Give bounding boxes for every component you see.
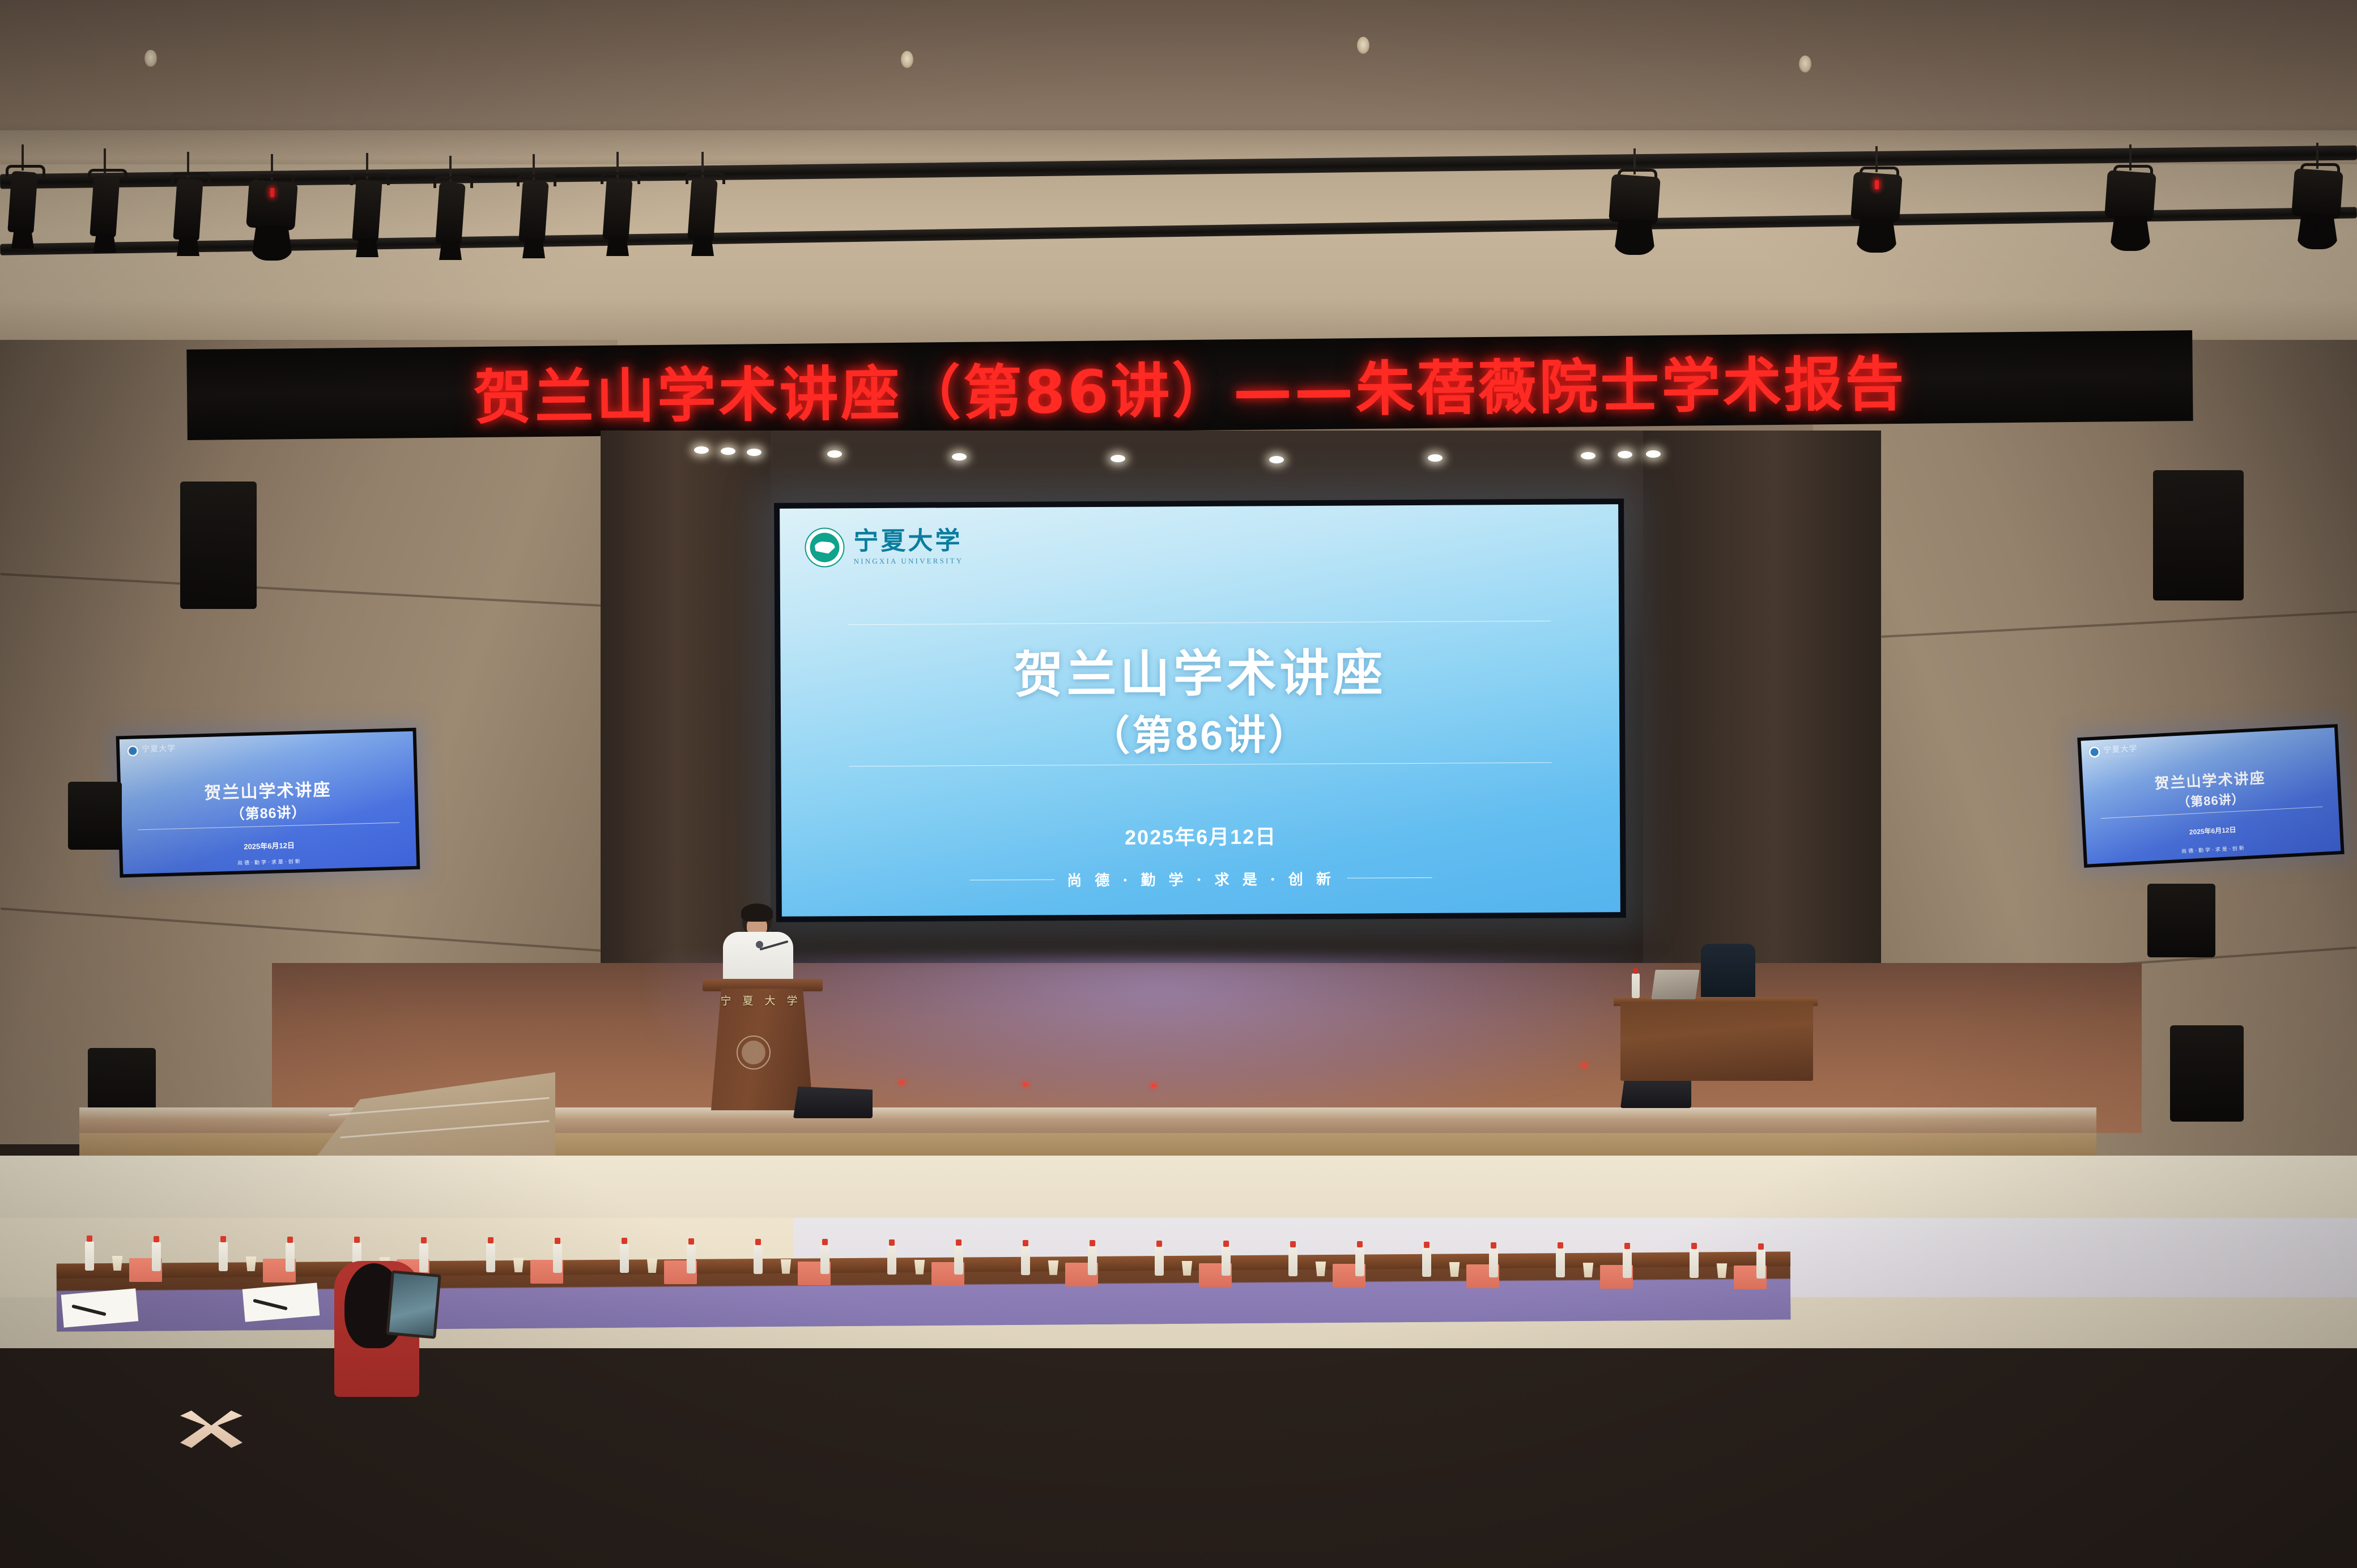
- laser-pointer-dot: [900, 1081, 904, 1084]
- water-bottle-icon: [1690, 1249, 1699, 1278]
- side-monitor-right-date: 2025年6月12日: [2086, 819, 2339, 842]
- ningxia-university-emblem-icon: [126, 744, 139, 757]
- slide-title: 贺兰山学术讲座: [780, 632, 1619, 708]
- water-bottle-icon: [1756, 1249, 1765, 1279]
- water-bottle-icon: [486, 1243, 495, 1272]
- water-bottle-icon: [1422, 1247, 1431, 1277]
- laser-pointer-dot: [1023, 1083, 1028, 1086]
- ceiling-downlight-icon: [901, 51, 913, 68]
- podium-label: 宁 夏 大 学: [718, 992, 803, 1008]
- water-bottle-icon: [1489, 1248, 1498, 1277]
- wall-speaker-left-upper: [180, 482, 257, 609]
- water-bottle-icon: [553, 1243, 562, 1273]
- led-banner-text: 贺兰山学术讲座（第86讲）——朱蓓薇院士学术报告: [473, 335, 1907, 434]
- tablet-device-icon: [386, 1270, 441, 1339]
- slide-motto: 尚 德 · 勤 学 · 求 是 · 创 新: [781, 866, 1620, 892]
- wall-speaker-right-bottom: [2170, 1025, 2244, 1122]
- stage-monitor-speaker-left: [793, 1086, 873, 1118]
- water-bottle-icon: [1355, 1247, 1364, 1276]
- slide-subtitle: （第86讲）: [781, 700, 1620, 764]
- side-monitor-left-date: 2025年6月12日: [122, 836, 416, 855]
- water-bottle-icon: [754, 1245, 763, 1274]
- side-monitor-left-motto: 尚德·勤学·求是·创新: [123, 854, 416, 870]
- upper-wall: [0, 164, 2357, 357]
- water-bottle-icon: [887, 1245, 896, 1275]
- presenter-at-podium: [713, 905, 803, 990]
- ningxia-university-emblem-icon: [2088, 745, 2101, 759]
- water-bottle-icon: [1088, 1246, 1097, 1275]
- logo-chinese-name: 宁夏大学: [853, 529, 963, 554]
- water-bottle-icon: [1288, 1247, 1297, 1276]
- water-bottle-icon: [687, 1244, 696, 1273]
- laser-pointer-dot: [1582, 1064, 1586, 1067]
- spotlight-icon: [1618, 451, 1632, 458]
- spotlight-icon: [1646, 450, 1661, 458]
- water-bottle-icon: [1021, 1246, 1030, 1275]
- water-bottle-icon: [820, 1245, 829, 1274]
- slide-rule-top: [848, 621, 1551, 625]
- ningxia-university-emblem-icon: [805, 527, 844, 567]
- water-bottle-icon: [954, 1245, 963, 1275]
- water-bottle-icon: [1222, 1246, 1231, 1276]
- spotlight-icon: [827, 450, 842, 458]
- university-seal-icon: [737, 1036, 771, 1070]
- laptop-icon: [1651, 970, 1699, 999]
- auditorium-scene: 贺兰山学术讲座（第86讲）——朱蓓薇院士学术报告 宁夏大学 NINGXIA UN…: [0, 0, 2357, 1568]
- spotlight-icon: [1269, 456, 1284, 463]
- water-bottle-icon: [1556, 1248, 1565, 1277]
- water-bottle-icon: [152, 1242, 161, 1271]
- side-monitor-right-logo: 宁夏大学 NINGXIA UNIVERSITY: [2088, 743, 2138, 760]
- water-bottle-icon: [219, 1242, 228, 1271]
- ceiling-downlight-icon: [1357, 37, 1369, 54]
- side-monitor-right-slide: 宁夏大学 NINGXIA UNIVERSITY 贺兰山学术讲座 （第86讲） 2…: [2081, 727, 2341, 864]
- side-monitor-right: 宁夏大学 NINGXIA UNIVERSITY 贺兰山学术讲座 （第86讲） 2…: [2077, 724, 2344, 868]
- stage-monitor-speaker-right: [1620, 1076, 1691, 1108]
- water-bottle-icon: [1632, 973, 1640, 998]
- water-bottle-icon: [286, 1242, 295, 1272]
- wall-speaker-right-lower: [2147, 884, 2215, 957]
- spotlight-icon: [1581, 452, 1596, 459]
- spotlight-icon: [721, 448, 735, 455]
- microphone-head-icon: [756, 941, 763, 948]
- spotlight-icon: [694, 446, 709, 454]
- water-bottle-icon: [419, 1243, 428, 1272]
- spotlight-icon: [747, 449, 761, 456]
- side-logo-chinese-name: 宁夏大学: [142, 744, 176, 755]
- wall-speaker-right-upper: [2153, 470, 2244, 600]
- motto-text: 尚 德 · 勤 学 · 求 是 · 创 新: [1067, 868, 1335, 890]
- water-bottle-icon: [1623, 1249, 1632, 1278]
- side-logo-english-name: NINGXIA UNIVERSITY: [142, 754, 176, 758]
- presenter-hair: [741, 904, 773, 922]
- side-monitor-left: 宁夏大学 NINGXIA UNIVERSITY 贺兰山学术讲座 （第86讲） 2…: [116, 728, 420, 878]
- laser-pointer-dot: [1151, 1084, 1156, 1087]
- spotlight-icon: [952, 453, 967, 461]
- water-bottle-icon: [620, 1243, 629, 1273]
- university-logo: 宁夏大学 NINGXIA UNIVERSITY: [805, 527, 963, 567]
- logo-english-name: NINGXIA UNIVERSITY: [854, 556, 964, 566]
- slide-date: 2025年6月12日: [781, 819, 1620, 853]
- ceiling-downlight-icon: [144, 50, 157, 67]
- slide-rule-bottom: [849, 762, 1552, 766]
- water-bottle-icon: [1155, 1246, 1164, 1276]
- side-monitor-left-slide: 宁夏大学 NINGXIA UNIVERSITY 贺兰山学术讲座 （第86讲） 2…: [120, 731, 416, 874]
- stage-desk: [1620, 1002, 1813, 1081]
- water-bottle-icon: [85, 1241, 94, 1271]
- led-banner: 贺兰山学术讲座（第86讲）——朱蓓薇院士学术报告: [186, 330, 2193, 440]
- side-logo-chinese-name: 宁夏大学: [2103, 744, 2138, 755]
- spotlight-icon: [1111, 455, 1125, 462]
- motto-rule-right: [1347, 877, 1432, 879]
- main-projection-screen: 宁夏大学 NINGXIA UNIVERSITY 贺兰山学术讲座 （第86讲） 2…: [774, 498, 1626, 922]
- spotlight-icon: [1428, 454, 1443, 462]
- motto-rule-left: [969, 879, 1054, 880]
- side-monitor-left-logo: 宁夏大学 NINGXIA UNIVERSITY: [126, 743, 176, 758]
- wall-speaker-left-lower: [68, 782, 122, 850]
- ceiling-downlight-icon: [1799, 56, 1811, 73]
- presentation-slide: 宁夏大学 NINGXIA UNIVERSITY 贺兰山学术讲座 （第86讲） 2…: [780, 504, 1620, 917]
